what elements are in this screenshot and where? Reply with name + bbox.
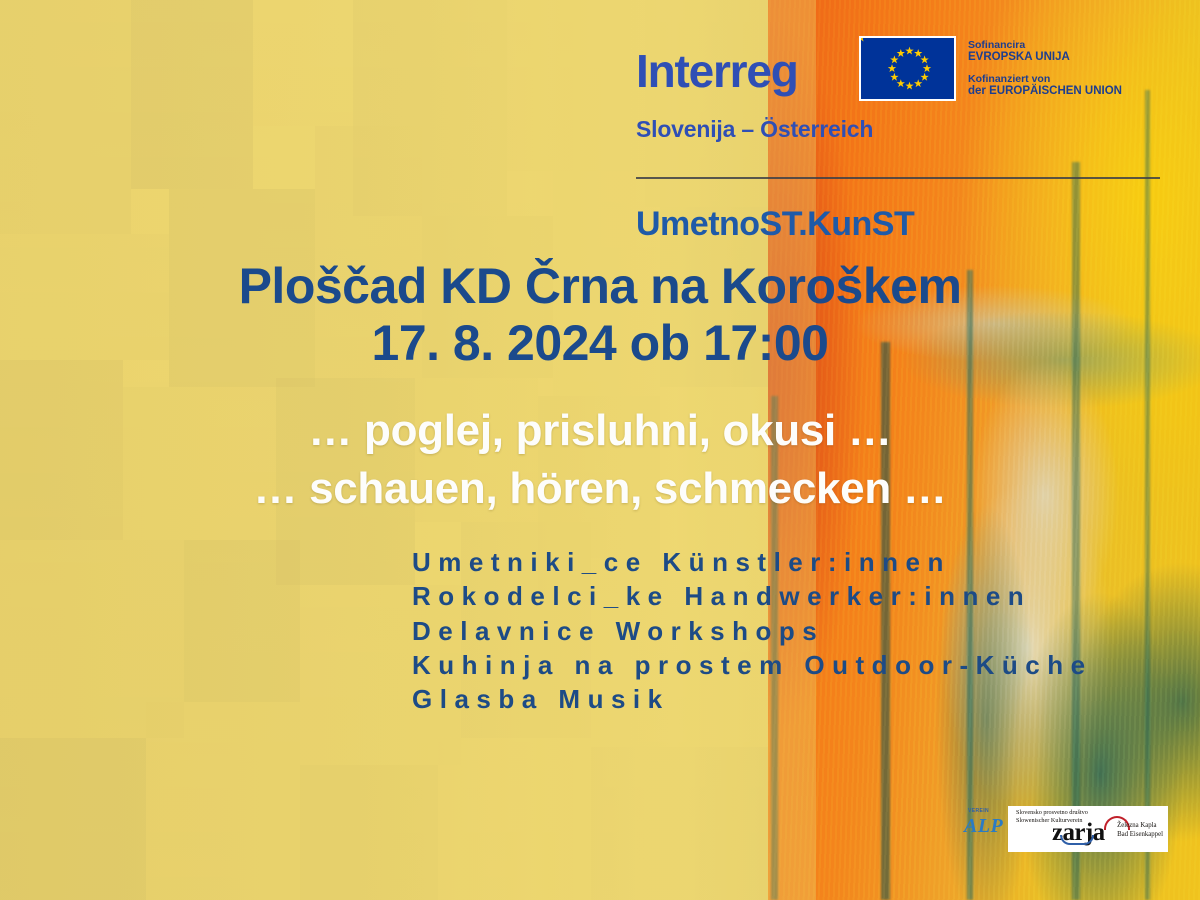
eu-line-sl-2: EVROPSKA UNIJA: [968, 51, 1122, 64]
interreg-logo: Interreg Slovenija – Österreich: [636, 48, 873, 143]
eu-line-de-1: Kofinanziert von: [968, 73, 1122, 85]
zarja-place-sl: Železna Kapla: [1117, 822, 1163, 831]
event-taglines: … poglej, prisluhni, okusi … … schauen, …: [0, 402, 1200, 518]
eu-flag-icon: [859, 36, 956, 101]
programme-item: Kuhinja na prostem Outdoor-Küche: [412, 648, 1152, 682]
programme-list: Umetniki_ce Künstler:innen Rokodelci_ke …: [412, 545, 1152, 717]
programme-item: Umetniki_ce Künstler:innen: [412, 545, 1152, 579]
interreg-wordmark: Interreg: [636, 48, 873, 94]
programme-item: Rokodelci_ke Handwerker:innen: [412, 579, 1152, 613]
interreg-programme-name: Slovenija – Österreich: [636, 116, 873, 143]
project-title: UmetnoST.KunST: [636, 205, 914, 244]
zarja-place: Železna Kapla Bad Eisenkappel: [1117, 822, 1163, 840]
event-headline: Ploščad KD Črna na Koroškem 17. 8. 2024 …: [0, 258, 1200, 372]
programme-item: Glasba Musik: [412, 682, 1152, 716]
eu-funding-block: Sofinancira EVROPSKA UNIJA Kofinanziert …: [859, 36, 1122, 101]
poster-canvas: Interreg Slovenija – Österreich: [0, 0, 1200, 900]
poster-content: Interreg Slovenija – Österreich: [0, 0, 1200, 900]
event-datetime: 17. 8. 2024 ob 17:00: [0, 315, 1200, 372]
programme-item: Delavnice Workshops: [412, 614, 1152, 648]
tagline-slovenian: … poglej, prisluhni, okusi …: [0, 402, 1200, 460]
partner-logos: VEREIN ALP Slovensko prosvetno društvo S…: [962, 806, 1168, 852]
zarja-place-de: Bad Eisenkappel: [1117, 831, 1163, 840]
tagline-german: … schauen, hören, schmecken …: [0, 460, 1200, 518]
alp-logo: VEREIN ALP: [962, 806, 1006, 852]
header-divider-line: [636, 177, 1160, 179]
eu-line-sl-1: Sofinancira: [968, 39, 1122, 51]
alp-logo-small-text: VEREIN: [968, 808, 989, 814]
alp-logo-wordmark: ALP: [964, 815, 1003, 838]
eu-line-de-2: der EUROPÄISCHEN UNION: [968, 85, 1122, 98]
zarja-smile-icon: [1060, 835, 1094, 845]
zarja-subtitle-sl: Slovensko prosvetno društvo: [1016, 809, 1088, 817]
event-venue: Ploščad KD Črna na Koroškem: [0, 258, 1200, 315]
zarja-logo: Slovensko prosvetno društvo Slowenischer…: [1008, 806, 1168, 852]
eu-funding-text: Sofinancira EVROPSKA UNIJA Kofinanziert …: [968, 36, 1122, 98]
